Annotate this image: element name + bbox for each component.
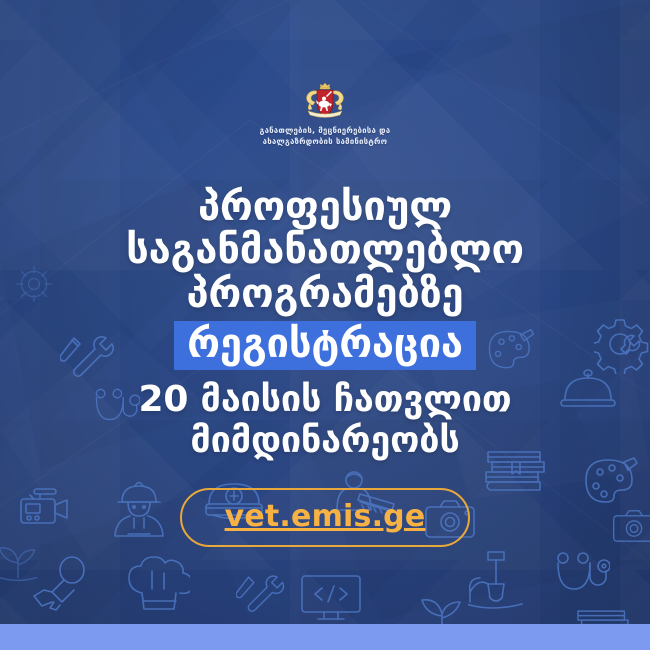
headline-line-2: საგანმანათლებლო [126,229,524,273]
poster-content: განათლების, მეცნიერებისა და ახალგაზრდობი… [0,0,650,650]
ministry-name-line-1: განათლების, მეცნიერებისა და [260,126,391,137]
ministry-logo-block: განათლების, მეცნიერებისა და ახალგაზრდობი… [260,82,391,148]
georgia-coat-of-arms-icon [302,82,348,122]
ministry-name-line-2: ახალგაზრდობის სამინისტრო [260,137,391,148]
deadline-line-2: მიმდინარეობს [139,421,512,462]
page-title: პროფესიულ საგანმანათლებლო პროგრამებზე [126,186,524,317]
deadline-text: 20 მაისის ჩათვლით მიმდინარეობს [139,380,512,461]
promo-poster: განათლების, მეცნიერებისა და ახალგაზრდობი… [0,0,650,650]
website-cta-button[interactable]: vet.emis.ge [180,488,471,547]
headline-line-3: პროგრამებზე [126,273,524,317]
registration-highlight: რეგისტრაცია [174,321,476,370]
deadline-line-1: 20 მაისის ჩათვლით [139,380,512,421]
ministry-name: განათლების, მეცნიერებისა და ახალგაზრდობი… [260,126,391,148]
headline-line-1: პროფესიულ [126,186,524,230]
highlight-wrapper: რეგისტრაცია [174,321,476,370]
